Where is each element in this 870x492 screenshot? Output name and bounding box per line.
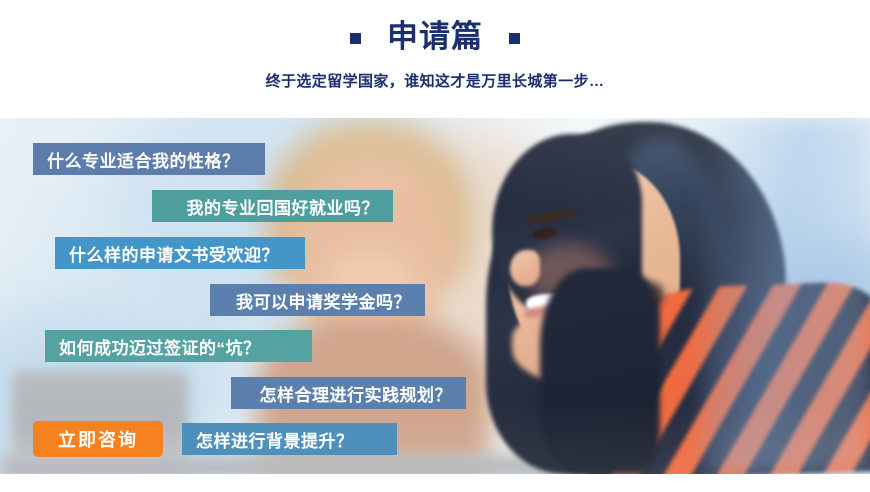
portrait-nose bbox=[510, 250, 540, 286]
question-bar-label: 如何成功迈过签证的“坑？ bbox=[59, 334, 261, 359]
student-portrait bbox=[452, 118, 870, 474]
square-bullet-icon-right bbox=[509, 33, 520, 44]
question-bar-label: 我的专业回国好就业吗？ bbox=[187, 194, 380, 219]
consult-now-button[interactable]: 立即咨询 bbox=[33, 421, 163, 457]
question-bar-label: 什么专业适合我的性格？ bbox=[47, 147, 240, 172]
question-bar-6[interactable]: 怎样合理进行实践规划？ bbox=[231, 377, 466, 409]
question-bar-2[interactable]: 我的专业回国好就业吗？ bbox=[152, 190, 393, 222]
question-bar-3[interactable]: 什么样的申请文书受欢迎？ bbox=[55, 237, 305, 269]
portrait-hair-front bbox=[540, 268, 660, 474]
promo-banner: 申请篇 终于选定留学国家，谁知这才是万里长城第一步… bbox=[0, 0, 870, 492]
page-title: 申请篇 bbox=[387, 21, 483, 52]
question-bar-7[interactable]: 怎样进行背景提升？ bbox=[182, 423, 397, 455]
portrait-rim-light bbox=[702, 118, 870, 474]
question-bar-label: 我可以申请奖学金吗？ bbox=[236, 288, 411, 313]
title-row: 申请篇 bbox=[0, 21, 870, 52]
question-bar-5[interactable]: 如何成功迈过签证的“坑？ bbox=[45, 330, 312, 362]
question-bar-4[interactable]: 我可以申请奖学金吗？ bbox=[210, 284, 425, 316]
question-bar-1[interactable]: 什么专业适合我的性格？ bbox=[33, 143, 265, 175]
square-bullet-icon-left bbox=[350, 33, 361, 44]
question-bar-label: 什么样的申请文书受欢迎？ bbox=[69, 241, 279, 266]
question-bar-label: 怎样合理进行实践规划？ bbox=[260, 381, 453, 406]
banner-header: 申请篇 终于选定留学国家，谁知这才是万里长城第一步… bbox=[0, 0, 870, 118]
page-subtitle: 终于选定留学国家，谁知这才是万里长城第一步… bbox=[0, 70, 870, 91]
question-bar-label: 怎样进行背景提升？ bbox=[196, 427, 354, 452]
